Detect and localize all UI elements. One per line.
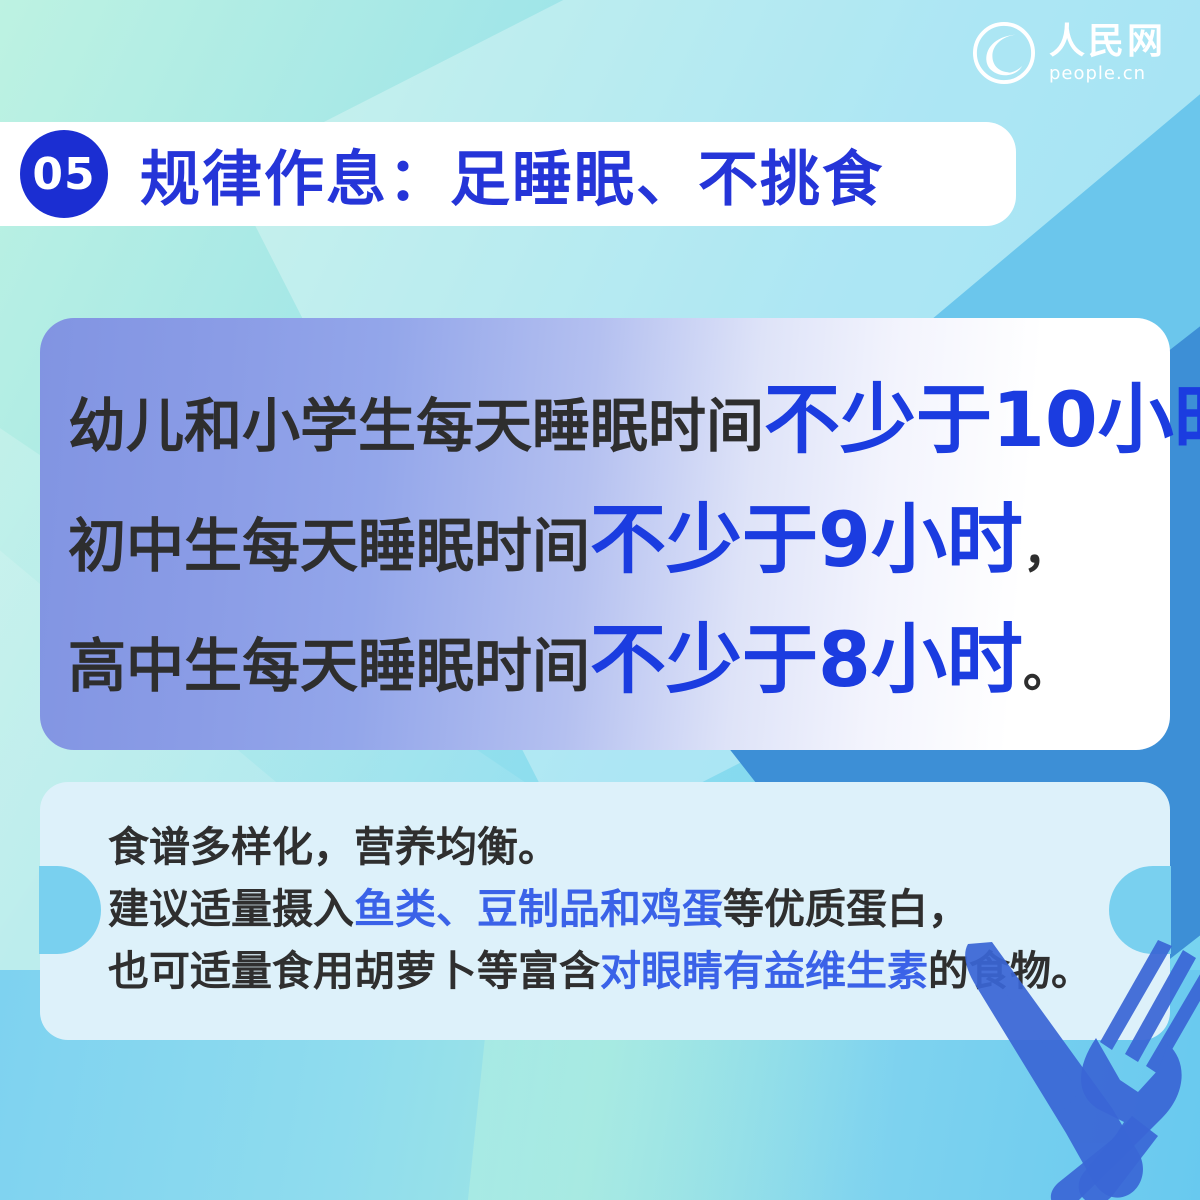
brand-logo-text: 人民网 people.cn	[1049, 23, 1166, 83]
diet-line-2: 建议适量摄入鱼类、豆制品和鸡蛋等优质蛋白，	[108, 878, 1170, 940]
sleep-line-2-lead: 初中生每天睡眠时间	[68, 512, 590, 580]
sleep-line-primary: 幼儿和小学生每天睡眠时间不少于10小时，	[68, 364, 1170, 476]
diet-line-1: 食谱多样化，营养均衡。	[108, 816, 1170, 878]
section-title: 规律作息：足睡眠、不挑食	[140, 131, 884, 218]
sleep-line-3-punct: 。	[1023, 642, 1071, 698]
sleep-line-2-emphasis: 不少于9小时	[590, 495, 1023, 584]
sleep-line-3-emphasis: 不少于8小时	[590, 615, 1023, 704]
sleep-line-high: 高中生每天睡眠时间不少于8小时。	[68, 604, 1170, 716]
step-number-badge: 05	[20, 130, 108, 218]
section-header-bar: 05 规律作息：足睡眠、不挑食	[0, 122, 1016, 226]
diet-line-3-highlight: 对眼睛有益维生素	[600, 947, 928, 995]
infographic-poster: 人民网 people.cn 05 规律作息：足睡眠、不挑食 幼儿和小学生每天睡眠…	[0, 0, 1200, 1200]
brand-name-en: people.cn	[1049, 65, 1166, 83]
diet-line-2-prefix: 建议适量摄入	[108, 885, 354, 933]
brand-name-cn: 人民网	[1049, 23, 1166, 59]
diet-line-1-text: 食谱多样化，营养均衡。	[108, 823, 559, 871]
diet-line-2-highlight: 鱼类、豆制品和鸡蛋	[354, 885, 723, 933]
sleep-line-1-lead: 幼儿和小学生每天睡眠时间	[68, 392, 764, 460]
diet-line-2-suffix: 等优质蛋白，	[723, 885, 969, 933]
sleep-line-middle: 初中生每天睡眠时间不少于9小时，	[68, 484, 1170, 596]
sleep-recommendation-panel: 幼儿和小学生每天睡眠时间不少于10小时， 初中生每天睡眠时间不少于9小时， 高中…	[40, 318, 1170, 750]
diet-note-panel: 食谱多样化，营养均衡。 建议适量摄入鱼类、豆制品和鸡蛋等优质蛋白， 也可适量食用…	[40, 782, 1170, 1040]
globe-wave-icon	[973, 22, 1035, 84]
sleep-line-2-punct: ，	[1023, 522, 1071, 578]
diet-line-3: 也可适量食用胡萝卜等富含对眼睛有益维生素的食物。	[108, 940, 1170, 1002]
diet-line-3-prefix: 也可适量食用胡萝卜等富含	[108, 947, 600, 995]
brand-logo: 人民网 people.cn	[973, 22, 1166, 84]
ticket-notch-left	[39, 866, 101, 954]
diet-line-3-suffix: 的食物。	[928, 947, 1092, 995]
sleep-line-3-lead: 高中生每天睡眠时间	[68, 632, 590, 700]
sleep-line-1-emphasis: 不少于10小时	[764, 375, 1200, 464]
